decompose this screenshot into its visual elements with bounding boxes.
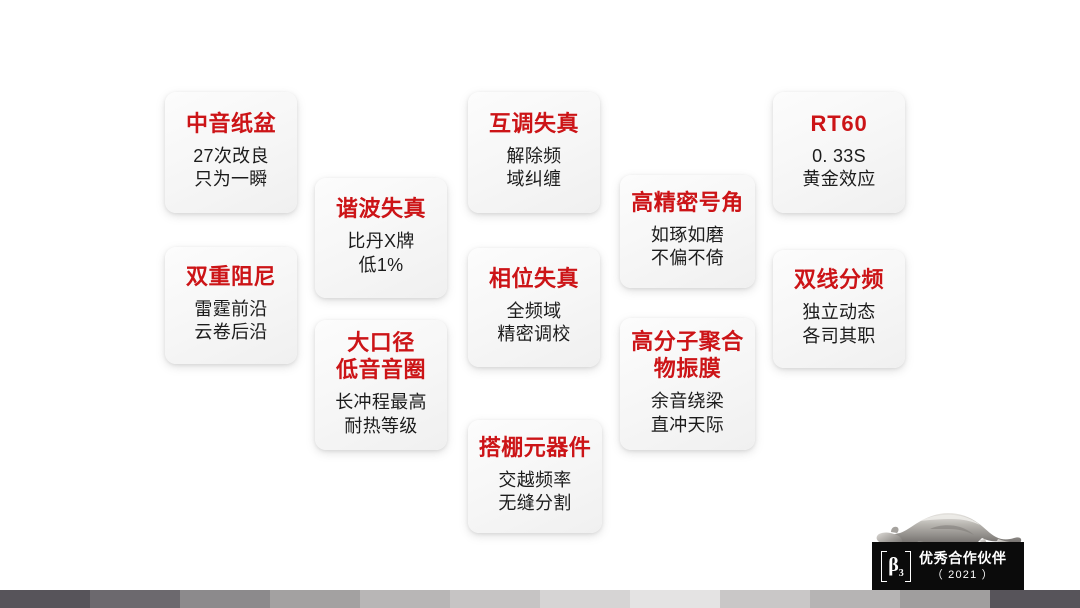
- grayscale-gradient-strip: [0, 590, 1080, 608]
- strip-segment-10: [810, 590, 900, 608]
- feature-card-title: 中音纸盆: [186, 110, 276, 138]
- beta-symbol: β3: [881, 554, 911, 585]
- feature-card-title: 互调失真: [489, 110, 579, 138]
- feature-card-body: 0. 33S 黄金效应: [802, 145, 875, 193]
- beta-glyph: β: [888, 554, 899, 576]
- feature-card-harmonic-distortion[interactable]: 谐波失真比丹X牌 低1%: [315, 178, 447, 298]
- feature-card-title: 相位失真: [489, 265, 579, 293]
- feature-card-dual-damping[interactable]: 双重阻尼雷霆前沿 云卷后沿: [165, 247, 297, 364]
- strip-segment-1: [0, 590, 90, 608]
- feature-card-intermodulation-distortion[interactable]: 互调失真解除频 域纠缠: [468, 92, 600, 213]
- feature-card-body: 独立动态 各司其职: [802, 301, 875, 349]
- feature-card-high-precision-horn[interactable]: 高精密号角如琢如磨 不偏不倚: [620, 175, 755, 288]
- feature-card-title: RT60: [811, 110, 868, 138]
- award-year: （ 2021 ）: [932, 570, 994, 582]
- feature-card-body: 长冲程最高 耐热等级: [335, 391, 427, 439]
- feature-card-body: 全频域 精密调校: [497, 300, 570, 348]
- award-plaque-text: 优秀合作伙伴 （ 2021 ）: [919, 551, 1007, 581]
- feature-card-title: 大口径 低音音圈: [336, 329, 426, 384]
- feature-card-title: 搭棚元器件: [479, 434, 592, 462]
- feature-card-title: 谐波失真: [336, 195, 426, 223]
- feature-card-rt60[interactable]: RT600. 33S 黄金效应: [773, 92, 905, 213]
- feature-card-large-bore-bass-voice-coil[interactable]: 大口径 低音音圈长冲程最高 耐热等级: [315, 320, 447, 450]
- slide-canvas: 中音纸盆27次改良 只为一瞬谐波失真比丹X牌 低1%双重阻尼雷霆前沿 云卷后沿大…: [0, 0, 1080, 608]
- strip-segment-4: [270, 590, 360, 608]
- feature-card-phase-distortion[interactable]: 相位失真全频域 精密调校: [468, 248, 600, 367]
- feature-card-title: 双线分频: [794, 266, 884, 294]
- strip-segment-6: [450, 590, 540, 608]
- partner-award-logo: β3 优秀合作伙伴 （ 2021 ）: [872, 497, 1032, 595]
- feature-card-body: 比丹X牌 低1%: [347, 230, 414, 278]
- strip-segment-7: [540, 590, 630, 608]
- feature-card-body: 解除频 域纠缠: [507, 145, 562, 193]
- feature-card-body: 如琢如磨 不偏不倚: [651, 224, 724, 272]
- feature-card-body: 雷霆前沿 云卷后沿: [194, 298, 267, 346]
- strip-segment-9: [720, 590, 810, 608]
- strip-segment-2: [90, 590, 180, 608]
- strip-segment-12: [990, 590, 1080, 608]
- strip-segment-5: [360, 590, 450, 608]
- strip-segment-8: [630, 590, 720, 608]
- strip-segment-11: [900, 590, 990, 608]
- feature-card-point-to-point-components[interactable]: 搭棚元器件交越频率 无缝分割: [468, 420, 602, 533]
- feature-card-title: 高分子聚合 物振膜: [631, 328, 744, 383]
- feature-card-midrange-cone[interactable]: 中音纸盆27次改良 只为一瞬: [165, 92, 297, 213]
- feature-card-bi-wiring-crossover[interactable]: 双线分频独立动态 各司其职: [773, 250, 905, 368]
- award-plaque: β3 优秀合作伙伴 （ 2021 ）: [872, 542, 1024, 590]
- beta-three-bracket-icon: β3: [881, 551, 911, 582]
- feature-card-title: 高精密号角: [631, 189, 744, 217]
- feature-card-polymer-diaphragm[interactable]: 高分子聚合 物振膜余音绕梁 直冲天际: [620, 318, 755, 450]
- feature-card-body: 27次改良 只为一瞬: [193, 145, 269, 193]
- award-title: 优秀合作伙伴: [919, 551, 1007, 566]
- feature-card-title: 双重阻尼: [186, 263, 276, 291]
- strip-segment-3: [180, 590, 270, 608]
- feature-card-body: 交越频率 无缝分割: [498, 469, 571, 517]
- beta-subscript: 3: [899, 568, 904, 579]
- feature-card-body: 余音绕梁 直冲天际: [651, 390, 724, 438]
